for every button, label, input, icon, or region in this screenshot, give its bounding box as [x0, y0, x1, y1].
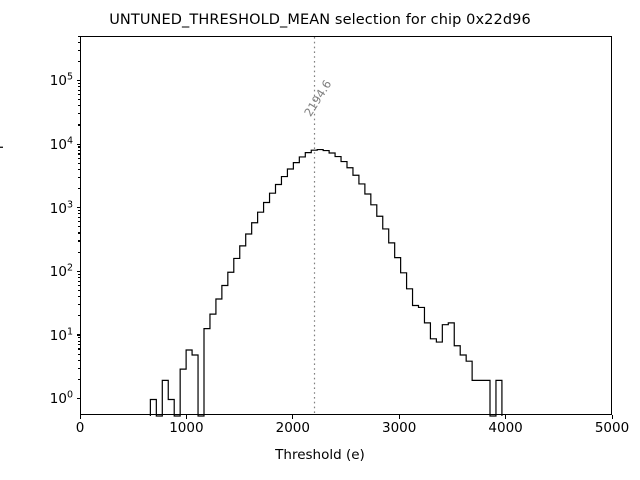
- plot-area: 2194.6: [80, 36, 612, 415]
- chart-figure: UNTUNED_THRESHOLD_MEAN selection for chi…: [0, 0, 640, 480]
- y-axis-label: Number of pixels: [0, 110, 4, 225]
- y-tick-label: 101: [50, 326, 73, 344]
- histogram-step-line: [150, 150, 502, 416]
- y-tick-label: 105: [50, 72, 73, 90]
- x-tick-label: 5000: [595, 420, 629, 436]
- y-tick-label: 103: [50, 199, 73, 217]
- histogram-plot: [81, 37, 613, 416]
- x-tick-label: 3000: [382, 420, 416, 436]
- x-tick-label: 4000: [488, 420, 522, 436]
- x-tick-label: 0: [76, 420, 85, 436]
- y-tick-label: 104: [50, 135, 73, 153]
- x-tick-label: 1000: [169, 420, 203, 436]
- y-tick-label: 100: [50, 390, 73, 408]
- x-tick-label: 2000: [276, 420, 310, 436]
- y-tick-label: 102: [50, 263, 73, 281]
- chart-title: UNTUNED_THRESHOLD_MEAN selection for chi…: [0, 12, 640, 28]
- x-axis-label: Threshold (e): [0, 447, 640, 463]
